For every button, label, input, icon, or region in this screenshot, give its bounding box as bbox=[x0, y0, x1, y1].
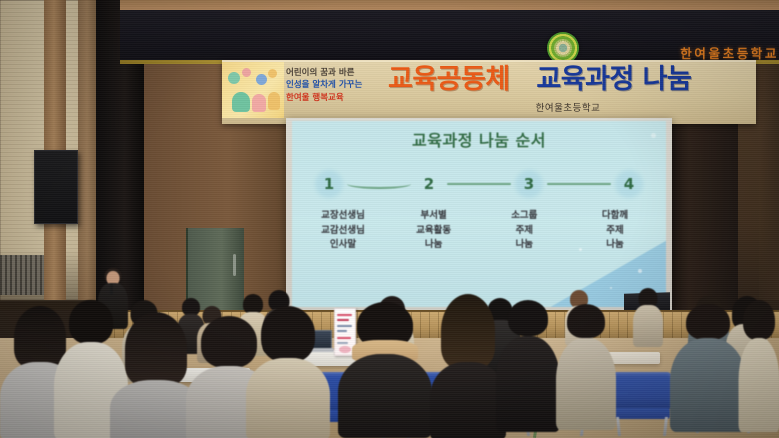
step-label-1-line1: 교장선생님 bbox=[300, 209, 386, 224]
step-label-4-line1: 다함께 bbox=[572, 209, 658, 224]
slide-step-labels-row: 교장선생님 교감선생님 인사말 부서별 교육활동 나눔 소그룹 주제 나눔 다함… bbox=[300, 209, 658, 253]
illustration-figure-body-3 bbox=[268, 92, 280, 110]
step-label-4-line3: 나눔 bbox=[572, 238, 658, 253]
projection-screen: 교육과정 나눔 순서 1 2 3 4 교장선생님 bbox=[292, 121, 666, 307]
chair-leg-left bbox=[616, 417, 621, 436]
step-label-1-line3: 인사말 bbox=[300, 238, 386, 253]
step-connector-2 bbox=[447, 183, 511, 185]
audience-hair bbox=[743, 300, 775, 340]
audience-hair bbox=[686, 304, 730, 340]
step-label-3-line1: 소그룹 bbox=[481, 209, 567, 224]
audience-member bbox=[338, 302, 432, 438]
auditorium-photo-scene: 한여울초등학교 어린이의 꿈과 바른 인성을 알차게 가꾸는 한여울 행복교육 … bbox=[0, 0, 779, 438]
banner-slogan-line3: 한여울 행복교육 bbox=[286, 92, 382, 104]
banner-illustration bbox=[222, 62, 284, 118]
step-number-1: 1 bbox=[314, 169, 344, 199]
step-label-3: 소그룹 주제 나눔 bbox=[481, 209, 567, 253]
audience-member bbox=[670, 304, 746, 438]
step-number-3: 3 bbox=[514, 169, 544, 199]
slide-dot-1 bbox=[638, 269, 642, 273]
illustration-figure-body-2 bbox=[252, 94, 266, 112]
illustration-figure-head-3 bbox=[256, 74, 267, 85]
banner-school-name: 한여울초등학교 bbox=[388, 100, 748, 114]
microphone-icon bbox=[110, 283, 113, 295]
banner-title: 교육공동체 교육과정 나눔 bbox=[388, 66, 748, 93]
slide-dot-3 bbox=[610, 287, 612, 289]
audience-hair bbox=[567, 304, 605, 338]
step-number-4: 4 bbox=[614, 169, 644, 199]
audience-member bbox=[738, 300, 779, 438]
audience-member bbox=[556, 304, 616, 438]
illustration-figure-head-1 bbox=[228, 72, 240, 84]
audience-coat bbox=[670, 338, 746, 432]
audience-coat bbox=[496, 336, 560, 432]
left-pillar-secondary bbox=[78, 0, 96, 300]
door-handle-icon bbox=[233, 254, 236, 276]
step-label-1: 교장선생님 교감선생님 인사말 bbox=[300, 209, 386, 253]
audience-hair bbox=[125, 312, 187, 386]
audience-hair bbox=[261, 306, 315, 362]
slide-step-numbers-row: 1 2 3 4 bbox=[314, 169, 644, 199]
step-number-2: 2 bbox=[414, 169, 444, 199]
wall-speaker bbox=[34, 150, 78, 224]
audience-coat bbox=[738, 338, 779, 432]
audience-coat bbox=[338, 354, 432, 438]
audience-member bbox=[430, 294, 506, 438]
illustration-figure-head-4 bbox=[268, 69, 277, 78]
audience-hair bbox=[441, 294, 495, 368]
audience-member bbox=[246, 306, 330, 438]
step-label-2-line2: 교육활동 bbox=[391, 224, 477, 239]
chair[interactable] bbox=[612, 372, 672, 434]
slide-title: 교육과정 나눔 순서 bbox=[292, 127, 666, 151]
audience-hair bbox=[69, 300, 113, 344]
step-label-2: 부서별 교육활동 나눔 bbox=[391, 209, 477, 253]
banner-title-part1: 교육공동체 bbox=[388, 64, 510, 95]
step-label-1-line2: 교감선생님 bbox=[300, 224, 386, 239]
chair-seat bbox=[614, 408, 669, 419]
step-label-4: 다함께 주제 나눔 bbox=[572, 209, 658, 253]
radiator-grille bbox=[0, 255, 44, 295]
chair-back bbox=[612, 372, 672, 409]
audience-hair bbox=[508, 300, 548, 336]
illustration-figure-body-1 bbox=[232, 92, 250, 112]
step-label-4-line2: 주제 bbox=[572, 224, 658, 239]
audience-body bbox=[633, 305, 663, 347]
audience-coat bbox=[246, 358, 330, 438]
step-label-2-line3: 나눔 bbox=[391, 238, 477, 253]
banner-slogan: 어린이의 꿈과 바른 인성을 알차게 가꾸는 한여울 행복교육 bbox=[286, 67, 382, 104]
audience-coat bbox=[430, 362, 506, 438]
step-label-3-line2: 주제 bbox=[481, 224, 567, 239]
chair-leg-right bbox=[663, 417, 668, 436]
banner-slogan-line1: 어린이의 꿈과 바른 bbox=[286, 67, 382, 79]
audience-member bbox=[632, 288, 664, 346]
step-label-2-line1: 부서별 bbox=[391, 209, 477, 224]
banner-slogan-line2: 인성을 알차게 가꾸는 bbox=[286, 79, 382, 91]
step-connector-3 bbox=[547, 183, 611, 185]
step-connector-1 bbox=[347, 179, 411, 189]
stage-header-band: 한여울초등학교 bbox=[120, 10, 779, 62]
audience-member bbox=[496, 300, 560, 438]
banner-title-part2: 교육과정 나눔 bbox=[536, 64, 691, 95]
illustration-figure-head-2 bbox=[242, 68, 251, 77]
event-banner: 어린이의 꿈과 바른 인성을 알차게 가꾸는 한여울 행복교육 교육공동체 교육… bbox=[222, 60, 756, 124]
audience-coat bbox=[556, 338, 616, 430]
step-label-3-line3: 나눔 bbox=[481, 238, 567, 253]
